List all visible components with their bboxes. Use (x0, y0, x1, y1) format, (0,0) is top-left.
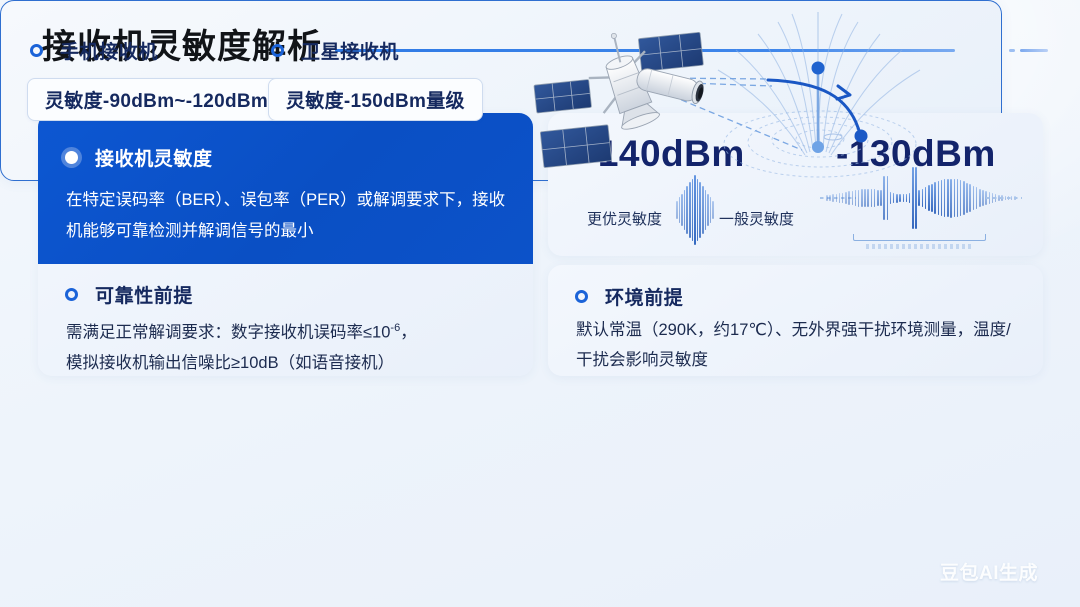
waveform-bar (848, 191, 850, 205)
waveform-bar (874, 189, 876, 207)
waveform-bar (877, 190, 879, 207)
waveform-bar (832, 194, 834, 202)
receiver-value-phone: 灵敏度-90dBm~-120dBm (27, 78, 286, 121)
waveform-bar (689, 182, 691, 237)
satellite-illustration (520, 0, 1002, 181)
watermark-label: 豆包AI生成 (940, 558, 1038, 585)
waveform-bar (845, 192, 847, 204)
waveform-bar (944, 179, 946, 217)
waveform-bar (883, 176, 885, 220)
waveform-bar (899, 194, 901, 202)
waveform-bar (893, 193, 895, 203)
waveform-bar (842, 193, 844, 204)
metric-label-better: 更优灵敏度 (587, 208, 662, 229)
waveform-bar (963, 181, 965, 214)
receiver-heading-row-satellite: 卫星接收机 (271, 37, 399, 64)
definition-heading: 接收机灵敏度 (95, 144, 213, 171)
definition-heading-row: 接收机灵敏度 (65, 144, 213, 171)
waveform-bar (676, 201, 678, 219)
environment-body-text: 默认常温（290K，约17℃）、无外界强干扰环境测量，温度/干扰会影响灵敏度 (576, 315, 1026, 375)
waveform-bar (909, 193, 911, 202)
waveform-bar (982, 190, 984, 206)
waveform-bar (947, 179, 949, 218)
waveform-bar (699, 182, 701, 237)
definition-body-text: 在特定误码率（BER）、误包率（PER）或解调要求下，接收机能够可靠检测并解调信… (66, 185, 509, 247)
header-dash-small (1009, 49, 1015, 52)
bullet-dot-icon (65, 151, 78, 164)
waveform-bar (880, 190, 882, 206)
receiver-heading-phone: 手机接收机 (60, 37, 158, 64)
waveform-bar (976, 187, 978, 209)
waveform-bar (966, 183, 968, 214)
waveform-bar (692, 179, 694, 242)
waveform-bar (960, 180, 962, 215)
bullet-ring-icon (575, 290, 588, 303)
diamond-waveform-icon (676, 175, 714, 245)
waveform-bracket-dots (866, 244, 974, 249)
waveform-bar (950, 179, 952, 218)
waveform-bar (707, 194, 709, 227)
waveform-bar (855, 190, 857, 206)
header-dash-large (1020, 49, 1048, 52)
receiver-value-satellite: 灵敏度-150dBm量级 (268, 78, 483, 121)
reliability-line1-prefix: 需满足正常解调要求：数字接收机误码率≤10 (66, 324, 390, 342)
waveform-bar (705, 190, 707, 230)
waveform-bar (969, 184, 971, 212)
waveform-bar (954, 179, 956, 217)
receiver-heading-satellite: 卫星接收机 (301, 37, 399, 64)
waveform-bar (864, 189, 866, 207)
waveform-bar (867, 189, 869, 207)
environment-heading-row: 环境前提 (575, 283, 683, 310)
waveform-bar (925, 187, 927, 209)
waveform-bar (702, 186, 704, 234)
waveform-bar (681, 194, 683, 227)
waveform-bar (684, 190, 686, 230)
waveform-bar (686, 186, 688, 234)
waveform-bar (679, 197, 681, 222)
reliability-body-text: 需满足正常解调要求：数字接收机误码率≤10-6， 模拟接收机输出信噪比≥10dB… (66, 313, 516, 376)
receiver-heading-row-phone: 手机接收机 (30, 37, 158, 64)
waveform-bar (861, 189, 863, 207)
sensitivity-definition-card: 接收机灵敏度 在特定误码率（BER）、误包率（PER）或解调要求下，接收机能够可… (38, 113, 533, 376)
waveform-bar (938, 181, 940, 215)
waveform-bar (941, 180, 943, 216)
bullet-ring-icon (271, 44, 284, 57)
waveform-bar (922, 189, 924, 207)
environment-premise-card: 环境前提 默认常温（290K，约17℃）、无外界强干扰环境测量，温度/干扰会影响… (548, 265, 1043, 376)
bullet-ring-icon (30, 44, 43, 57)
waveform-bar (694, 175, 696, 245)
waveform-bar (871, 189, 873, 207)
waveform-bar (887, 176, 889, 220)
metric-label-typical: 一般灵敏度 (719, 208, 794, 229)
reliability-line1-suffix: ， (400, 324, 417, 342)
waveform-bar (890, 192, 892, 204)
bullet-ring-icon (65, 288, 78, 301)
waveform-bar (903, 194, 905, 202)
waveform-bar (852, 191, 854, 206)
waveform-guide-right (986, 197, 1022, 199)
waveform-bar (928, 185, 930, 210)
waveform-bar (979, 189, 981, 208)
waveform-bar (957, 179, 959, 216)
waveform-bar (934, 182, 936, 214)
waveform-bar (697, 179, 699, 242)
reliability-heading: 可靠性前提 (95, 281, 193, 308)
waveform-bar (839, 193, 841, 203)
waveform-bar (906, 194, 908, 202)
waveform-bracket (853, 234, 986, 241)
waveform-bar (836, 194, 838, 203)
reliability-exponent: -6 (390, 322, 400, 334)
waveform-bar (826, 195, 828, 201)
waveform-bar (973, 186, 975, 211)
waveform-bar (829, 195, 831, 202)
waveform-bar (931, 184, 933, 212)
waveform-bar (710, 197, 712, 222)
waveform-bar (858, 190, 860, 207)
waveform-bar (896, 194, 898, 203)
waveform-bar (918, 190, 920, 205)
environment-heading: 环境前提 (605, 283, 683, 310)
waveform-bar (712, 201, 714, 219)
reliability-line2: 模拟接收机输出信噪比≥10dB（如语音接机） (66, 354, 394, 372)
reliability-heading-row: 可靠性前提 (65, 281, 193, 308)
